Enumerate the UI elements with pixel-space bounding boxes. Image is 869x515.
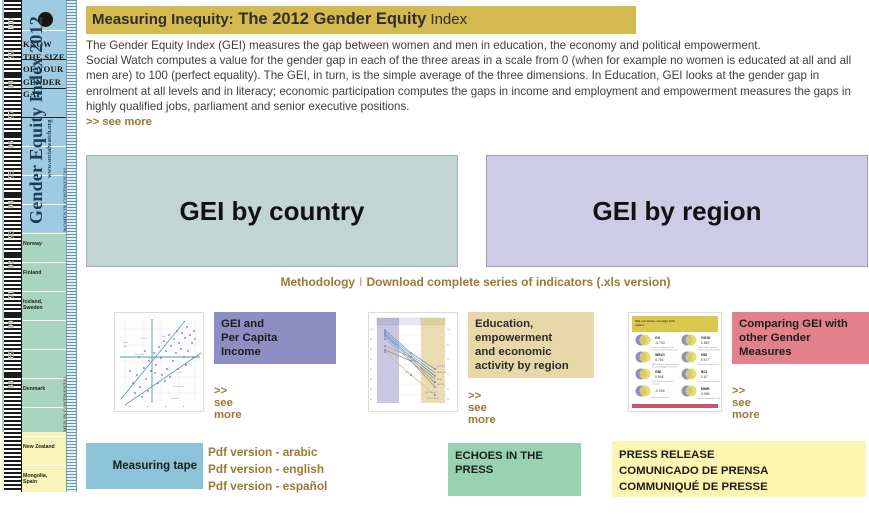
tape-rule-line bbox=[20, 407, 67, 408]
intro-line-2: Social Watch computes a value for the ge… bbox=[86, 53, 866, 114]
feature-2-see-more-link[interactable]: >> see more bbox=[468, 390, 496, 426]
svg-text:100: 100 bbox=[447, 329, 450, 331]
page-title-part1: Measuring Inequity: bbox=[92, 11, 234, 28]
feature-1-caption-line: Per Capita bbox=[221, 331, 329, 345]
tape-number-89: 89 bbox=[7, 347, 16, 363]
svg-text:-0.505: -0.505 bbox=[655, 389, 665, 393]
links-separator: I bbox=[355, 275, 366, 289]
svg-text:0.677: 0.677 bbox=[701, 358, 710, 362]
svg-text:World Economic Forum 2011: World Economic Forum 2011 bbox=[698, 349, 720, 352]
tape-number-94: 94 bbox=[7, 197, 16, 213]
tape-ruler-ticks bbox=[4, 0, 22, 492]
intro-line-1: The Gender Equity Index (GEI) measures t… bbox=[86, 38, 866, 53]
svg-text:others: others bbox=[635, 323, 645, 327]
tape-rule-line bbox=[20, 262, 67, 263]
svg-text:GII: GII bbox=[655, 336, 660, 340]
feature-2-caption-line: Education, bbox=[475, 317, 587, 331]
main-content: Measuring Inequity: The 2012 Gender Equi… bbox=[82, 0, 869, 515]
tape-fine-ruler bbox=[66, 0, 76, 492]
svg-text:80: 80 bbox=[370, 349, 372, 351]
tape-rule-line bbox=[20, 349, 67, 350]
svg-text:70: 70 bbox=[370, 359, 372, 361]
tape-rule-line bbox=[20, 436, 67, 437]
slope-chart-svg: 1009080 706050 4030 1008070 604030 EUROP… bbox=[369, 313, 457, 411]
feature-1-caption: GEI andPer CapitaIncome bbox=[214, 312, 336, 364]
feature-2-caption-line: empowerment bbox=[475, 331, 587, 345]
press-release-box[interactable]: PRESS RELEASE COMUNICADO DE PRENSA COMMU… bbox=[612, 441, 866, 497]
tape-number-97: 97 bbox=[7, 107, 16, 123]
svg-text:50: 50 bbox=[370, 379, 372, 381]
feature-1-caption-line: Income bbox=[221, 345, 329, 359]
scatter-plot-svg: CubaUSA YemenChad GuatemalaIran SaudiMoz… bbox=[115, 313, 203, 411]
feature-1-see-more-link[interactable]: >> see more bbox=[214, 385, 242, 421]
gei-by-country-label: GEI by country bbox=[180, 196, 365, 227]
xls-version-label[interactable]: (.xls version) bbox=[597, 275, 671, 289]
press-release-spanish[interactable]: COMUNICADO DE PRENSA bbox=[619, 463, 859, 479]
svg-text:30: 30 bbox=[370, 399, 372, 401]
pdf-arabic-link[interactable]: Pdf version - arabic bbox=[208, 444, 327, 461]
svg-text:Adolescent fertility rate: Adolescent fertility rate bbox=[652, 396, 669, 399]
gei-by-region-label: GEI by region bbox=[592, 196, 761, 227]
pdf-english-link[interactable]: Pdf version - english bbox=[208, 461, 327, 478]
page-title-part2: The 2012 Gender Equity bbox=[234, 10, 427, 28]
tape-rule-line bbox=[20, 465, 67, 466]
feature-2-caption-line: activity by region bbox=[475, 359, 587, 373]
scatter-plot-thumbnail[interactable]: CubaUSA YemenChad GuatemalaIran SaudiMoz… bbox=[114, 312, 204, 412]
svg-text:SOUTH ASIA: SOUTH ASIA bbox=[427, 397, 439, 400]
svg-text:MIDDLE EAST: MIDDLE EAST bbox=[425, 391, 438, 394]
svg-text:HDI: HDI bbox=[701, 353, 707, 357]
svg-text:per capita: per capita bbox=[652, 383, 659, 386]
tape-number-93: 93 bbox=[7, 227, 16, 243]
svg-text:ASIA: ASIA bbox=[405, 371, 410, 374]
tape-number-100: 100 bbox=[7, 17, 16, 33]
svg-text:Saudi: Saudi bbox=[177, 372, 183, 374]
tape-url: www.socialwatch.org bbox=[46, 120, 53, 179]
measuring-tape-sidebar: KNOWTHE SIZEOF YOURGENDER GAP Gender Equ… bbox=[0, 0, 78, 515]
svg-text:0.887: 0.887 bbox=[701, 341, 710, 345]
svg-text:WEOI: WEOI bbox=[655, 353, 665, 357]
svg-text:AMERICAS: AMERICAS bbox=[437, 371, 448, 374]
svg-text:90: 90 bbox=[370, 339, 372, 341]
feature-1-caption-line: GEI and bbox=[221, 317, 329, 331]
svg-text:0.67: 0.67 bbox=[701, 375, 708, 379]
tape-number-96: 96 bbox=[7, 137, 16, 153]
svg-text:GGGI: GGGI bbox=[701, 336, 710, 340]
svg-text:ASIA: ASIA bbox=[437, 378, 442, 381]
svg-text:0.794: 0.794 bbox=[655, 358, 664, 362]
svg-text:-0.703: -0.703 bbox=[655, 341, 665, 345]
gei-by-country-button[interactable]: GEI by country bbox=[86, 155, 458, 267]
svg-text:MMR: MMR bbox=[701, 387, 710, 391]
correlation-card-svg: GEI correlates strongly with others GII … bbox=[629, 313, 721, 411]
tape-rule-line bbox=[20, 291, 67, 292]
svg-text:GNI: GNI bbox=[655, 370, 661, 374]
correlation-table-thumbnail[interactable]: GEI correlates strongly with others GII … bbox=[628, 312, 722, 412]
pdf-espanol-link[interactable]: Pdf version - español bbox=[208, 478, 327, 495]
svg-text:0.595: 0.595 bbox=[701, 392, 710, 396]
feature-3-caption-line: other Gender bbox=[739, 331, 869, 345]
feature-3-caption-line: Measures bbox=[739, 345, 869, 359]
feature-2-caption-line: and economic bbox=[475, 345, 587, 359]
svg-text:100: 100 bbox=[370, 329, 373, 331]
svg-text:Burundi: Burundi bbox=[171, 398, 178, 400]
svg-text:80: 80 bbox=[447, 344, 449, 346]
press-release-english[interactable]: PRESS RELEASE bbox=[619, 447, 859, 463]
tape-number-95: 95 bbox=[7, 167, 16, 183]
intro-paragraphs: The Gender Equity Index (GEI) measures t… bbox=[86, 38, 866, 130]
svg-text:Maternal Mortality Ratio, 2008: Maternal Mortality Ratio, 2008 bbox=[698, 397, 721, 400]
methodology-link[interactable]: Methodology bbox=[280, 275, 355, 289]
tape-rule-line bbox=[20, 378, 67, 379]
svg-text:60: 60 bbox=[370, 369, 372, 371]
svg-text:EUROPE: EUROPE bbox=[437, 366, 446, 368]
download-indicators-link[interactable]: Download complete series of indicators bbox=[366, 275, 593, 289]
tape-number-99: 99 bbox=[7, 47, 16, 63]
tape-number-98: 98 bbox=[7, 77, 16, 93]
measuring-tape-label: Measuring tape bbox=[113, 460, 197, 472]
gei-by-region-button[interactable]: GEI by region bbox=[486, 155, 868, 267]
page-title-part3: Index bbox=[426, 11, 467, 28]
page-banner: Measuring Inequity: The 2012 Gender Equi… bbox=[86, 6, 636, 34]
tape-rule-line bbox=[20, 320, 67, 321]
feature-3-see-more-link[interactable]: >> see more bbox=[732, 385, 760, 421]
svg-text:USA: USA bbox=[123, 345, 128, 348]
slope-chart-thumbnail[interactable]: 1009080 706050 4030 1008070 604030 EUROP… bbox=[368, 312, 458, 412]
svg-text:30: 30 bbox=[447, 399, 449, 401]
svg-text:Economist Intelligence Unit 20: Economist Intelligence Unit 2010 bbox=[652, 366, 677, 369]
svg-text:40: 40 bbox=[447, 389, 449, 391]
feature-3-caption-line: Comparing GEI with bbox=[739, 317, 869, 331]
tape-number-91: 91 bbox=[7, 287, 16, 303]
svg-text:Yemen: Yemen bbox=[141, 338, 147, 340]
svg-text:Iran: Iran bbox=[149, 358, 152, 360]
tape-rule-line bbox=[20, 233, 67, 234]
tape-title: Gender Equity Index 2012 bbox=[26, 16, 47, 224]
intro-see-more-link[interactable]: >> see more bbox=[86, 115, 866, 130]
feature-2-caption: Education,empowermentand economicactivit… bbox=[468, 312, 594, 378]
secondary-links: MethodologyIDownload complete series of … bbox=[82, 275, 869, 289]
tape-number-88: 88 bbox=[7, 377, 16, 393]
svg-text:Basic Capabilities Index 2011: Basic Capabilities Index 2011 bbox=[698, 380, 720, 383]
page-title: Measuring Inequity: The 2012 Gender Equi… bbox=[92, 10, 467, 29]
echoes-label: ECHOES IN THE PRESS bbox=[455, 449, 574, 477]
svg-text:Chad: Chad bbox=[161, 336, 166, 338]
svg-text:Human Development Index: Human Development Index bbox=[698, 363, 719, 366]
tape-number-90: 90 bbox=[7, 317, 16, 333]
svg-text:AFRICA: AFRICA bbox=[437, 383, 445, 386]
svg-text:Human Development Report 2011: Human Development Report 2011 bbox=[652, 349, 678, 352]
svg-text:0.648: 0.648 bbox=[655, 375, 664, 379]
tape-graphic: KNOWTHE SIZEOF YOURGENDER GAP Gender Equ… bbox=[2, 0, 77, 492]
feature-3-caption: Comparing GEI withother GenderMeasures bbox=[732, 312, 869, 364]
press-release-french[interactable]: COMMUNIQUÉ DE PRESSE bbox=[619, 479, 859, 495]
svg-text:BCI: BCI bbox=[701, 370, 707, 374]
svg-text:40: 40 bbox=[370, 389, 372, 391]
echoes-in-the-press-button[interactable]: ECHOES IN THE PRESS bbox=[448, 443, 581, 496]
pdf-version-links: Pdf version - arabic Pdf version - engli… bbox=[208, 444, 327, 495]
svg-text:70: 70 bbox=[447, 359, 449, 361]
tape-number-92: 92 bbox=[7, 257, 16, 273]
svg-text:Guatemala: Guatemala bbox=[135, 353, 146, 356]
svg-text:Mozambique: Mozambique bbox=[173, 386, 185, 388]
measuring-tape-button[interactable]: Measuring tape bbox=[86, 443, 203, 489]
svg-text:60: 60 bbox=[447, 374, 449, 376]
